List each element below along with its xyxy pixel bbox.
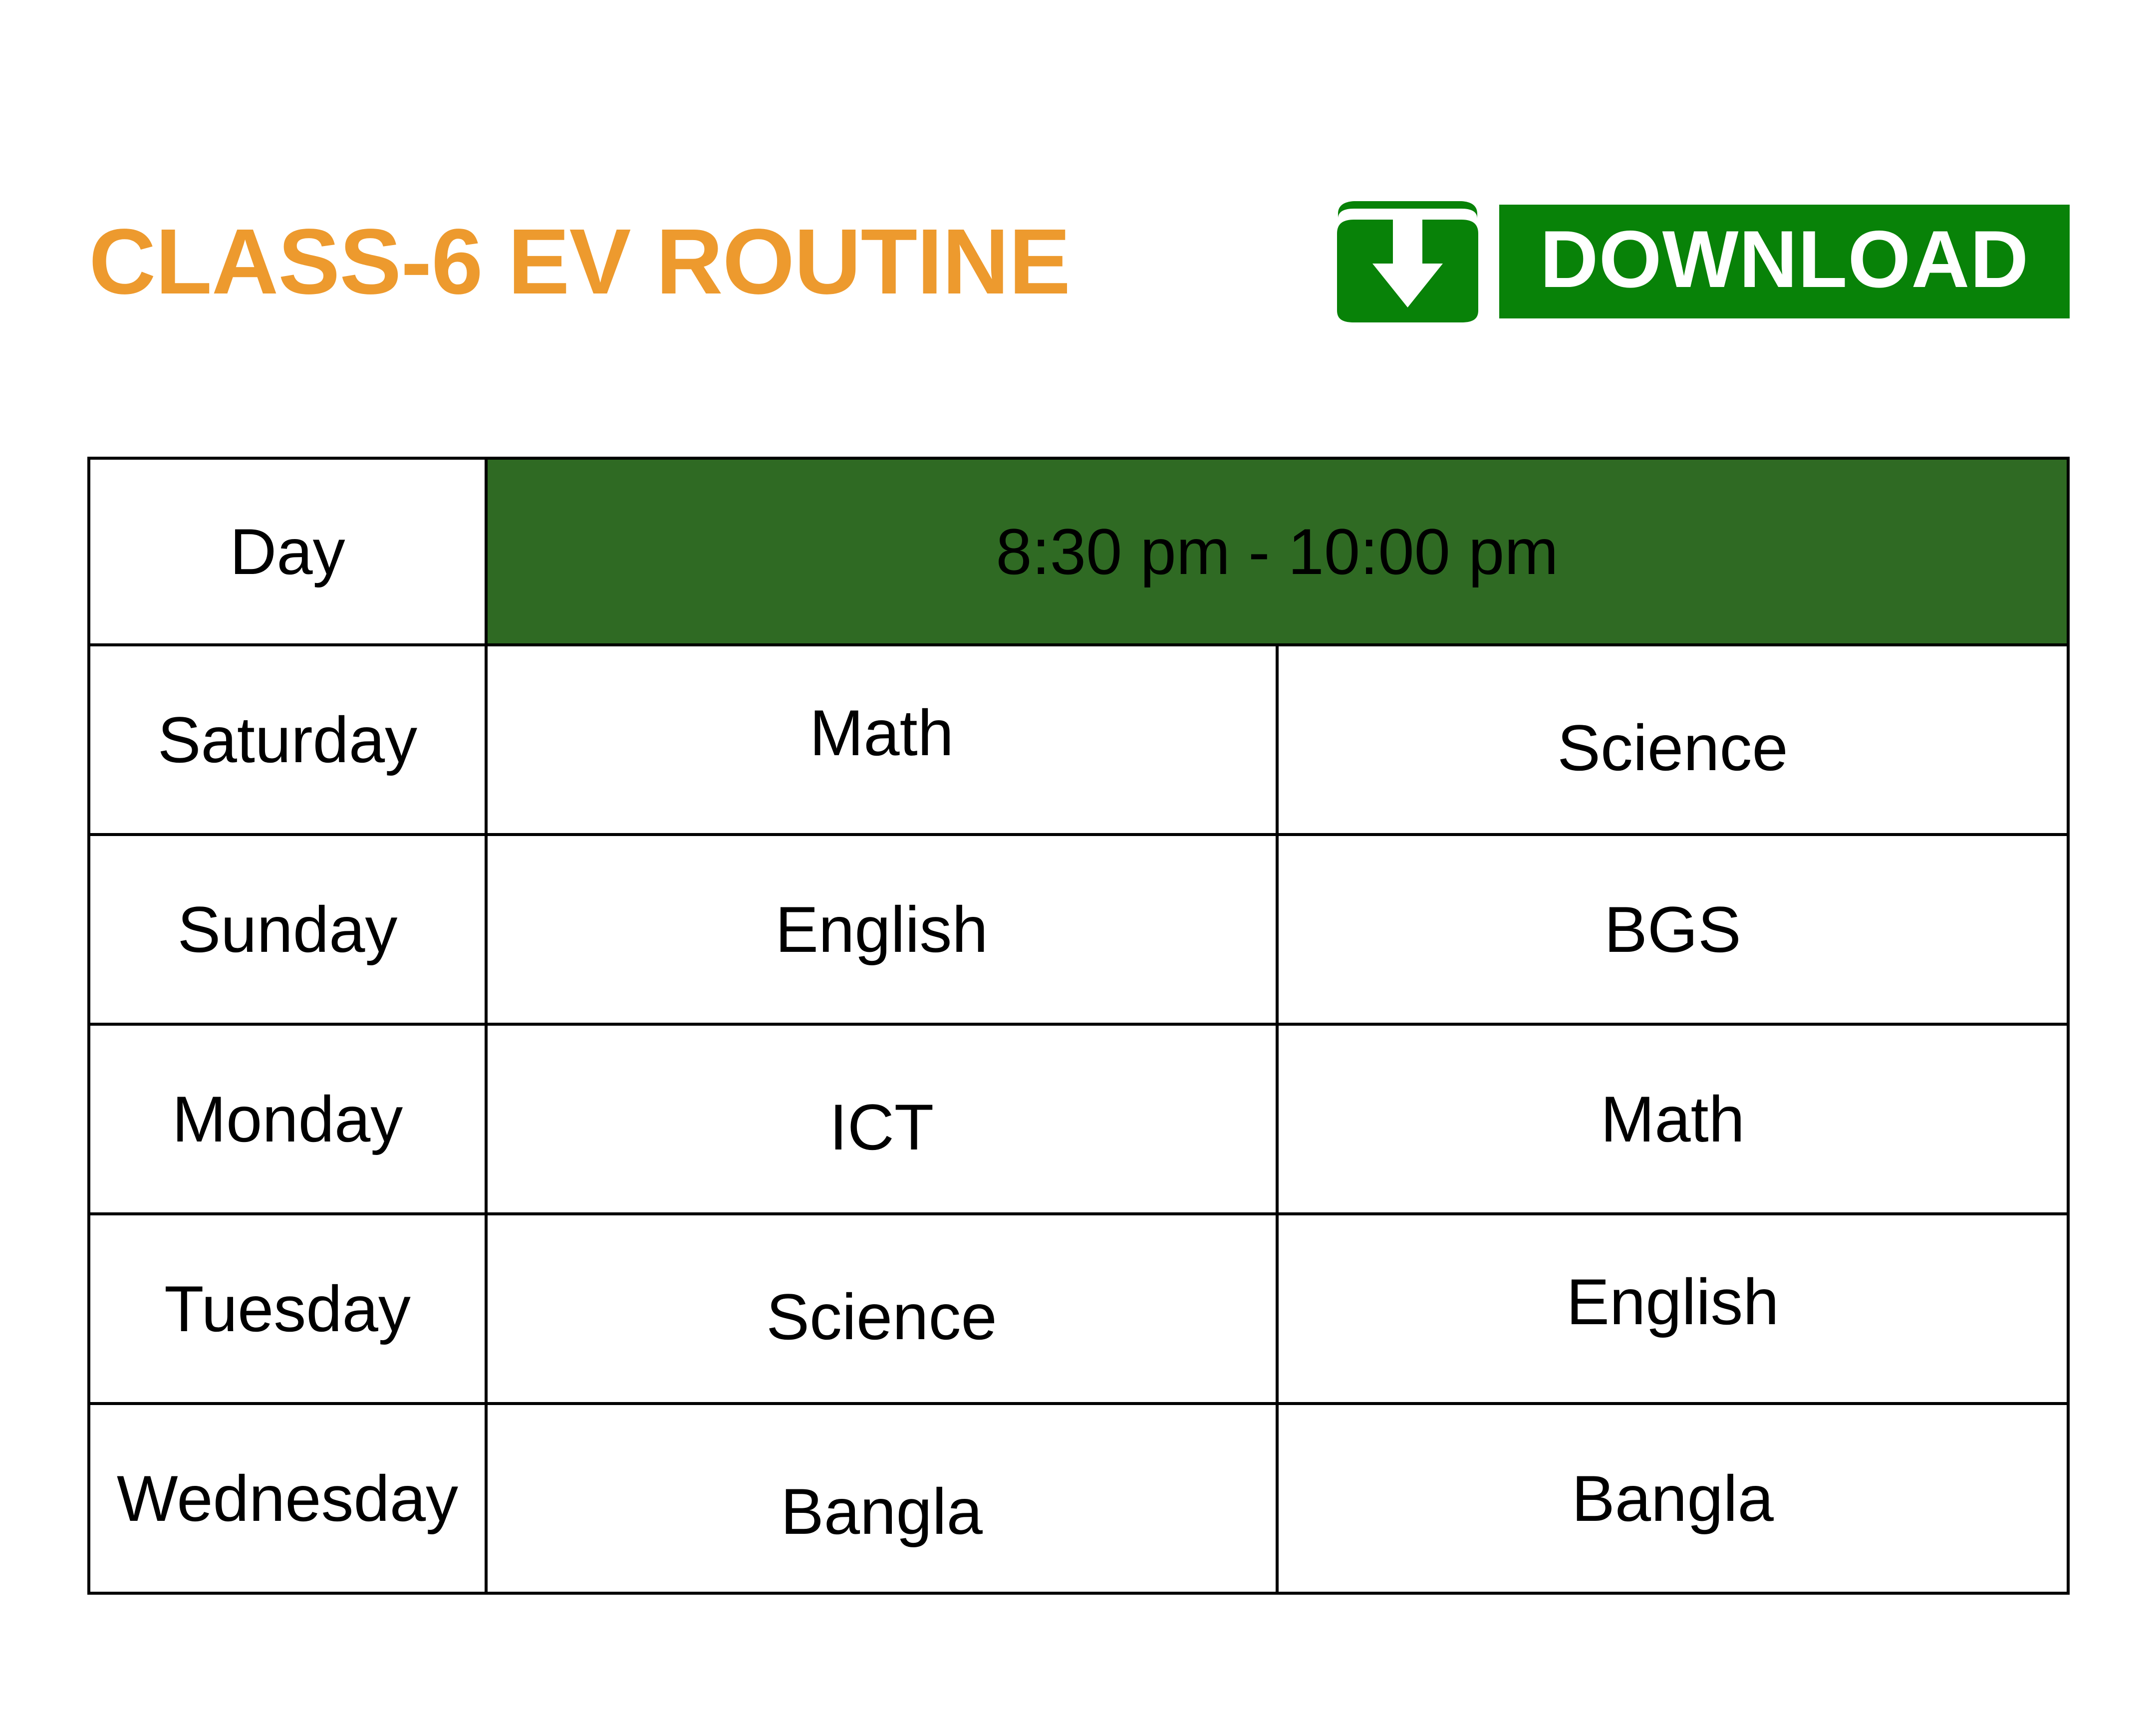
day-label: Tuesday: [164, 1273, 411, 1345]
download-button[interactable]: DOWNLOAD: [1334, 199, 2070, 324]
table-row: Saturday Math Science: [89, 645, 2068, 835]
cell-slot2-sunday: BGS: [1277, 835, 2068, 1024]
cell-day-saturday: Saturday: [89, 645, 486, 835]
table-row: Sunday English BGS: [89, 835, 2068, 1024]
day-label: Sunday: [178, 894, 398, 965]
header-zone: CLASS-6 EV ROUTINE DOWNLOAD: [0, 0, 2156, 379]
day-label: Monday: [172, 1084, 403, 1155]
header-cell-timeslot: 8:30 pm - 10:00 pm: [486, 458, 2068, 645]
header-timeslot-label: 8:30 pm - 10:00 pm: [996, 516, 1558, 587]
subject-label: Math: [1601, 1084, 1745, 1155]
header-cell-day: Day: [89, 458, 486, 645]
download-bar[interactable]: DOWNLOAD: [1499, 205, 2070, 318]
cell-slot1-sunday: English: [486, 835, 1277, 1024]
cell-slot2-tuesday: English: [1277, 1214, 2068, 1404]
cell-day-monday: Monday: [89, 1024, 486, 1214]
table-row: Tuesday Science English: [89, 1214, 2068, 1404]
subject-label: Science: [1557, 712, 1788, 784]
cell-slot1-saturday: Math: [486, 645, 1277, 835]
day-label: Wednesday: [117, 1463, 458, 1534]
subject-label: BGS: [1604, 894, 1741, 965]
cell-slot2-saturday: Science: [1277, 645, 2068, 835]
subject-label: English: [775, 894, 988, 965]
subject-label: Bangla: [781, 1476, 983, 1547]
table-row: Monday ICT Math: [89, 1024, 2068, 1214]
cell-slot2-wednesday: Bangla: [1277, 1404, 2068, 1593]
download-arrow-icon[interactable]: [1334, 199, 1481, 324]
subject-label: Science: [766, 1281, 997, 1353]
table-row: Wednesday Bangla Bangla: [89, 1404, 2068, 1593]
cell-slot1-wednesday: Bangla: [486, 1404, 1277, 1593]
cell-slot2-monday: Math: [1277, 1024, 2068, 1214]
cell-slot1-tuesday: Science: [486, 1214, 1277, 1404]
cell-day-sunday: Sunday: [89, 835, 486, 1024]
subject-label: Bangla: [1572, 1463, 1774, 1534]
header-day-label: Day: [230, 516, 345, 587]
routine-table: Day 8:30 pm - 10:00 pm Saturday Math Sci…: [87, 457, 2070, 1595]
cell-day-tuesday: Tuesday: [89, 1214, 486, 1404]
table-header-row: Day 8:30 pm - 10:00 pm: [89, 458, 2068, 645]
cell-slot1-monday: ICT: [486, 1024, 1277, 1214]
page-title: CLASS-6 EV ROUTINE: [89, 216, 1070, 308]
cell-day-wednesday: Wednesday: [89, 1404, 486, 1593]
day-label: Saturday: [158, 704, 417, 776]
subject-label: English: [1566, 1266, 1779, 1338]
subject-label: ICT: [829, 1092, 934, 1163]
subject-label: Math: [809, 697, 954, 769]
download-label: DOWNLOAD: [1499, 205, 2070, 318]
